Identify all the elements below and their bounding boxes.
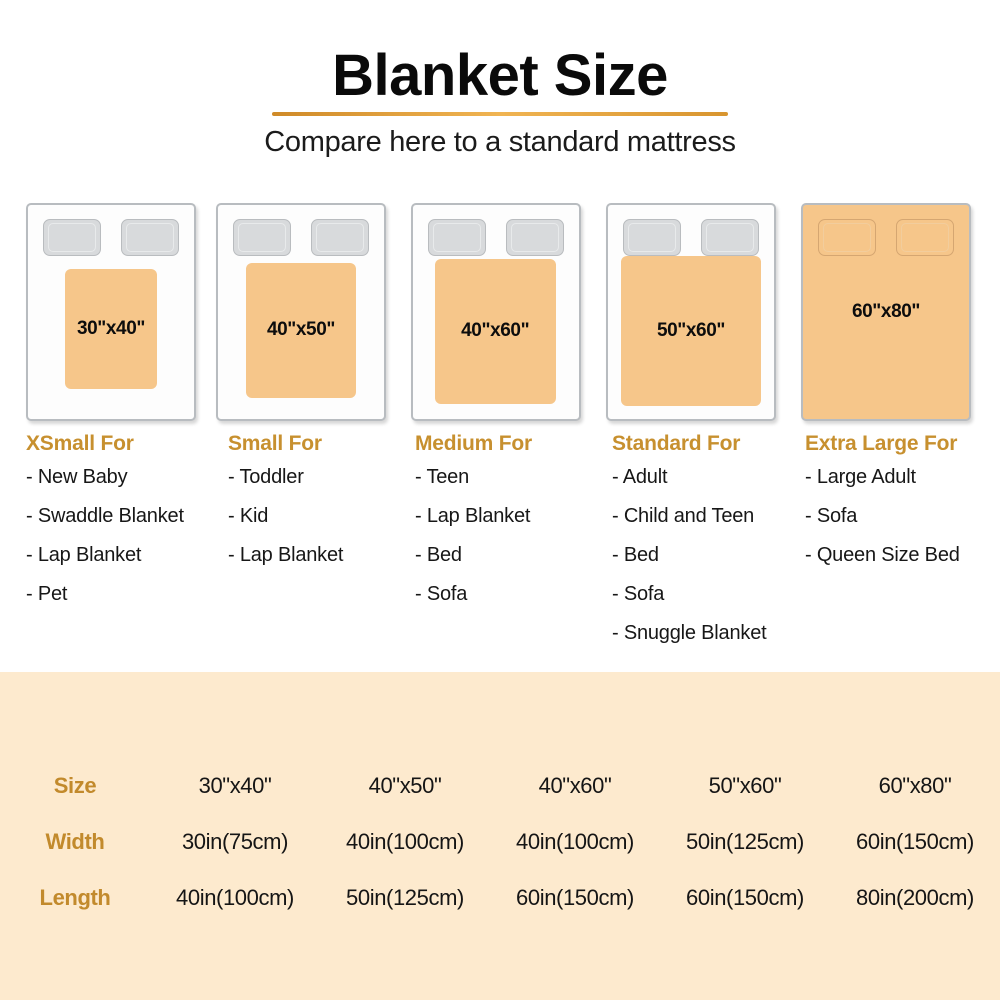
list-item: - Child and Teen bbox=[612, 506, 766, 526]
pillow-left-icon bbox=[233, 219, 291, 256]
mattress-outline: 50"x60" bbox=[606, 203, 776, 421]
size-list-4: Standard For- Adult- Child and Teen- Bed… bbox=[612, 432, 766, 662]
page-subtitle: Compare here to a standard mattress bbox=[0, 126, 1000, 159]
table-row-label: Width bbox=[0, 814, 150, 870]
table-cell: 40"x60" bbox=[490, 758, 660, 814]
table-cell: 80in(200cm) bbox=[830, 870, 1000, 926]
list-item: - Pet bbox=[26, 584, 184, 604]
table-cell: 40in(100cm) bbox=[320, 814, 490, 870]
table-cell: 40in(100cm) bbox=[490, 814, 660, 870]
bed-diagram-small: 40"x50" bbox=[216, 203, 386, 421]
table-row: Length40in(100cm)50in(125cm)60in(150cm)6… bbox=[0, 870, 1000, 926]
list-item: - Sofa bbox=[415, 584, 532, 604]
list-item: - Bed bbox=[415, 545, 532, 565]
size-table-body: Size30"x40"40"x50"40"x60"50"x60"60"x80"W… bbox=[0, 758, 1000, 926]
table-row-label: Size bbox=[0, 758, 150, 814]
mattress-outline: 30"x40" bbox=[26, 203, 196, 421]
mattress-outline: 40"x60" bbox=[411, 203, 581, 421]
bed-diagram-medium: 40"x60" bbox=[411, 203, 581, 421]
list-item: - Swaddle Blanket bbox=[26, 506, 184, 526]
table-row: Width30in(75cm)40in(100cm)40in(100cm)50i… bbox=[0, 814, 1000, 870]
list-item: - Large Adult bbox=[805, 467, 960, 487]
list-item: - Lap Blanket bbox=[26, 545, 184, 565]
blanket-area: 50"x60" bbox=[621, 256, 760, 406]
blanket-area: 30"x40" bbox=[65, 269, 158, 389]
list-item: - Adult bbox=[612, 467, 766, 487]
list-item: - New Baby bbox=[26, 467, 184, 487]
size-measurement-table: Size30"x40"40"x50"40"x60"50"x60"60"x80"W… bbox=[0, 758, 1000, 926]
table-cell: 60in(150cm) bbox=[660, 870, 830, 926]
blanket-area: 40"x50" bbox=[246, 263, 356, 398]
table-cell: 50"x60" bbox=[660, 758, 830, 814]
pillow-left-icon bbox=[428, 219, 486, 256]
pillow-right-icon bbox=[311, 219, 369, 256]
list-item: - Queen Size Bed bbox=[805, 545, 960, 565]
pillow-right-icon bbox=[701, 219, 759, 256]
blanket-size-label: 60"x80" bbox=[852, 301, 920, 323]
list-heading: Standard For bbox=[612, 432, 766, 456]
header: Blanket Size Compare here to a standard … bbox=[0, 46, 1000, 159]
table-cell: 40"x50" bbox=[320, 758, 490, 814]
table-cell: 60in(150cm) bbox=[490, 870, 660, 926]
table-row: Size30"x40"40"x50"40"x60"50"x60"60"x80" bbox=[0, 758, 1000, 814]
pillow-right-icon bbox=[121, 219, 179, 256]
list-item: - Teen bbox=[415, 467, 532, 487]
bed-diagram-extra-large: 60"x80" bbox=[801, 203, 971, 421]
size-list-1: XSmall For- New Baby- Swaddle Blanket- L… bbox=[26, 432, 184, 623]
page-title: Blanket Size bbox=[0, 46, 1000, 107]
blanket-size-label: 40"x60" bbox=[461, 320, 529, 342]
blanket-size-label: 50"x60" bbox=[657, 320, 725, 342]
bed-diagram-standard: 50"x60" bbox=[606, 203, 776, 421]
blanket-area: 60"x80" bbox=[803, 205, 969, 419]
table-cell: 50in(125cm) bbox=[660, 814, 830, 870]
list-item: - Sofa bbox=[612, 584, 766, 604]
pillow-right-icon bbox=[506, 219, 564, 256]
table-cell: 60"x80" bbox=[830, 758, 1000, 814]
table-cell: 30in(75cm) bbox=[150, 814, 320, 870]
blanket-size-infographic: Blanket Size Compare here to a standard … bbox=[0, 0, 1000, 1000]
mattress-outline: 40"x50" bbox=[216, 203, 386, 421]
list-item: - Snuggle Blanket bbox=[612, 623, 766, 643]
blanket-area: 40"x60" bbox=[435, 259, 556, 405]
list-item: - Lap Blanket bbox=[415, 506, 532, 526]
table-cell: 40in(100cm) bbox=[150, 870, 320, 926]
pillow-left-icon bbox=[623, 219, 681, 256]
mattress-outline: 60"x80" bbox=[801, 203, 971, 421]
list-item: - Lap Blanket bbox=[228, 545, 343, 565]
list-heading: XSmall For bbox=[26, 432, 184, 456]
table-cell: 60in(150cm) bbox=[830, 814, 1000, 870]
list-item: - Kid bbox=[228, 506, 343, 526]
size-list-5: Extra Large For- Large Adult- Sofa- Quee… bbox=[805, 432, 960, 584]
list-heading: Small For bbox=[228, 432, 343, 456]
size-list-3: Medium For- Teen- Lap Blanket- Bed- Sofa bbox=[415, 432, 532, 623]
title-underline-rule bbox=[272, 112, 728, 116]
blanket-size-label: 40"x50" bbox=[267, 319, 335, 341]
table-cell: 50in(125cm) bbox=[320, 870, 490, 926]
list-heading: Medium For bbox=[415, 432, 532, 456]
measurement-table-band: Size30"x40"40"x50"40"x60"50"x60"60"x80"W… bbox=[0, 672, 1000, 1000]
table-row-label: Length bbox=[0, 870, 150, 926]
blanket-size-label: 30"x40" bbox=[77, 318, 145, 340]
pillow-left-icon bbox=[43, 219, 101, 256]
table-cell: 30"x40" bbox=[150, 758, 320, 814]
size-list-2: Small For- Toddler- Kid- Lap Blanket bbox=[228, 432, 343, 584]
list-item: - Bed bbox=[612, 545, 766, 565]
bed-diagram-row: 30"x40"40"x50"40"x60"50"x60"60"x80" bbox=[0, 203, 1000, 425]
bed-diagram-xsmall: 30"x40" bbox=[26, 203, 196, 421]
list-heading: Extra Large For bbox=[805, 432, 960, 456]
list-item: - Toddler bbox=[228, 467, 343, 487]
list-item: - Sofa bbox=[805, 506, 960, 526]
